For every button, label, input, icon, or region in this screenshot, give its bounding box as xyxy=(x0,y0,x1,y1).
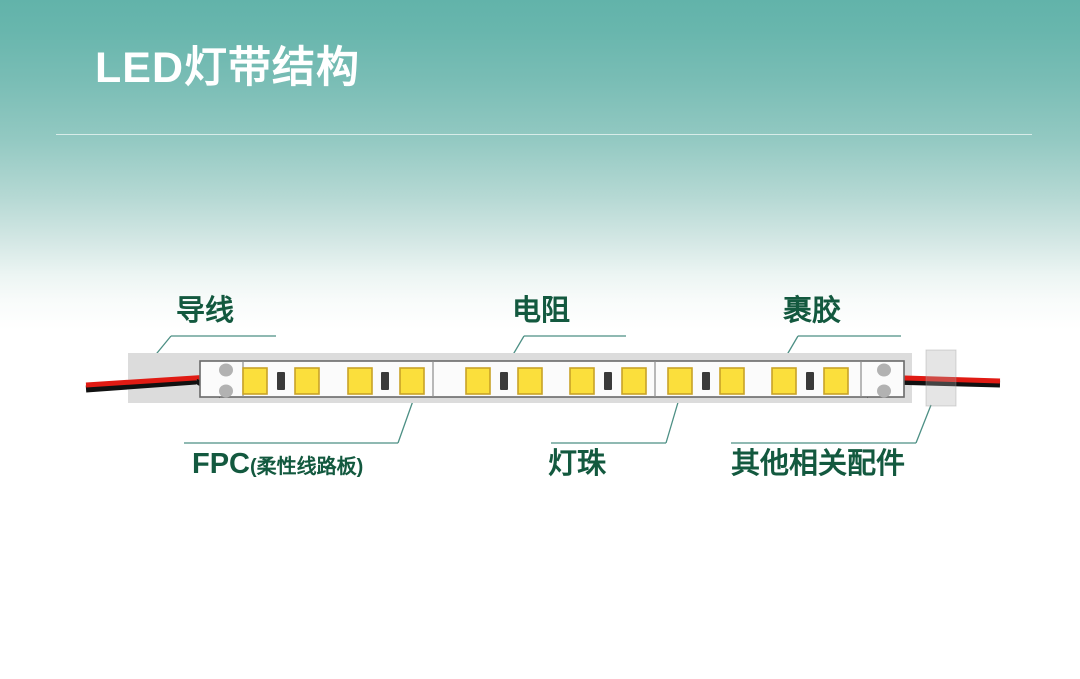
led-bead xyxy=(348,368,372,394)
led-bead xyxy=(466,368,490,394)
solder-pad-left-positive xyxy=(219,364,233,377)
resistor xyxy=(277,372,285,390)
solder-pad-left-negative xyxy=(219,385,233,398)
led-bead xyxy=(295,368,319,394)
leader-led-diagonal xyxy=(666,399,679,443)
led-bead xyxy=(668,368,692,394)
leader-fpc-diagonal xyxy=(398,398,414,443)
label-resistor: 电阻 xyxy=(512,297,570,326)
label-fpc: FPC(柔性线路板) xyxy=(192,450,363,479)
slide-canvas: LED灯带结构 xyxy=(0,0,1080,679)
label-wire: 导线 xyxy=(176,297,234,326)
led-bead xyxy=(772,368,796,394)
solder-pad-right-positive xyxy=(877,364,891,377)
label-accessories: 其他相关配件 xyxy=(731,450,905,479)
resistor xyxy=(806,372,814,390)
resistor xyxy=(604,372,612,390)
end-cap-accessory xyxy=(926,350,956,406)
led-bead xyxy=(570,368,594,394)
resistor xyxy=(500,372,508,390)
label-fpc-main: FPC xyxy=(192,448,250,480)
solder-pad-right-negative xyxy=(877,385,891,398)
label-led-bead: 灯珠 xyxy=(548,450,606,479)
led-bead xyxy=(622,368,646,394)
led-bead xyxy=(824,368,848,394)
led-strip-illustration xyxy=(0,0,1080,679)
led-bead xyxy=(400,368,424,394)
leader-accessories-diagonal xyxy=(916,405,931,443)
led-strip-diagram: 导线 电阻 裹胶 FPC(柔性线路板) 灯珠 其他相关配件 xyxy=(0,0,1080,679)
label-fpc-sub: (柔性线路板) xyxy=(250,456,363,478)
label-encapsulation: 裹胶 xyxy=(783,297,841,326)
led-bead xyxy=(243,368,267,394)
resistor xyxy=(702,372,710,390)
led-bead xyxy=(518,368,542,394)
led-bead xyxy=(720,368,744,394)
resistor xyxy=(381,372,389,390)
